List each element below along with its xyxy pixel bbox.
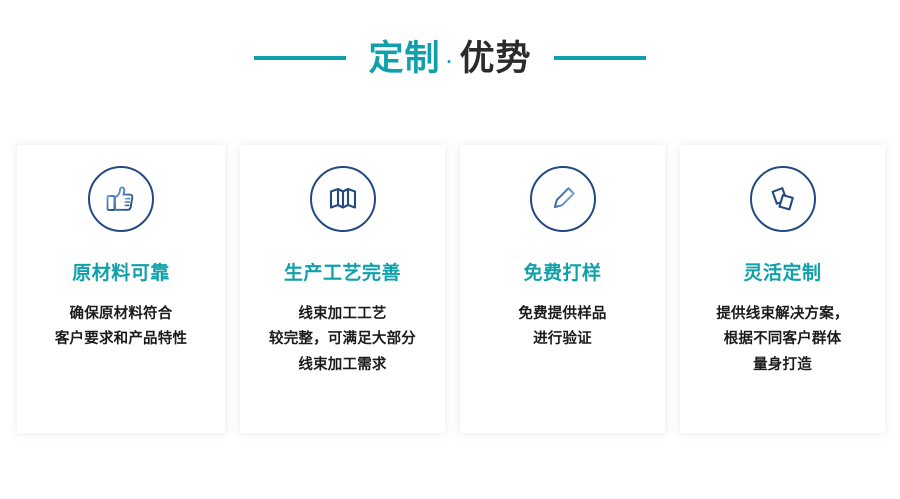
page-title-accent: 定制 [368, 41, 440, 76]
card-title: 原材料可靠 [72, 264, 170, 283]
icon-circle [530, 166, 596, 232]
icon-circle [88, 166, 154, 232]
card-body: 线束加工工艺 较完整，可满足大部分 线束加工需求 [259, 302, 426, 378]
card-body-line: 线束加工工艺 [269, 302, 416, 327]
card-body-line: 较完整，可满足大部分 [269, 327, 416, 352]
card-body-line: 免费提供样品 [518, 302, 606, 327]
page-title-main: 优势 [460, 41, 532, 76]
card-body-line: 根据不同客户群体 [716, 327, 848, 352]
card-body: 免费提供样品 进行验证 [508, 302, 616, 353]
advantage-card-list: 原材料可靠 确保原材料符合 客户要求和产品特性 生产工艺完善 线束加工工艺 较完… [17, 145, 885, 433]
thumbs-up-icon [103, 181, 139, 217]
card-body-line: 提供线束解决方案， [716, 302, 848, 327]
folded-map-icon [326, 182, 360, 216]
card-body-line: 客户要求和产品特性 [55, 327, 187, 352]
page-title: 定制 · 优势 [368, 41, 531, 76]
card-body-line: 线束加工需求 [269, 353, 416, 378]
card-title: 生产工艺完善 [284, 264, 401, 283]
advantage-card[interactable]: 灵活定制 提供线束解决方案， 根据不同客户群体 量身打造 [680, 145, 885, 433]
card-body: 提供线束解决方案， 根据不同客户群体 量身打造 [706, 302, 858, 378]
card-title: 灵活定制 [743, 264, 821, 283]
page-title-separator: · [441, 53, 460, 71]
advantage-card[interactable]: 免费打样 免费提供样品 进行验证 [460, 145, 665, 433]
advantage-card[interactable]: 生产工艺完善 线束加工工艺 较完整，可满足大部分 线束加工需求 [240, 145, 445, 433]
pencil-icon [546, 182, 580, 216]
icon-circle [310, 166, 376, 232]
icon-circle [750, 166, 816, 232]
card-body: 确保原材料符合 客户要求和产品特性 [45, 302, 197, 353]
heading-rule-right [554, 56, 646, 60]
heading-rule-left [254, 56, 346, 60]
stacked-cards-icon [766, 182, 800, 216]
card-body-line: 量身打造 [716, 353, 848, 378]
card-title: 免费打样 [523, 264, 601, 283]
section-heading: 定制 · 优势 [0, 28, 900, 88]
card-body-line: 进行验证 [518, 327, 606, 352]
card-body-line: 确保原材料符合 [55, 302, 187, 327]
advantage-card[interactable]: 原材料可靠 确保原材料符合 客户要求和产品特性 [17, 145, 225, 433]
